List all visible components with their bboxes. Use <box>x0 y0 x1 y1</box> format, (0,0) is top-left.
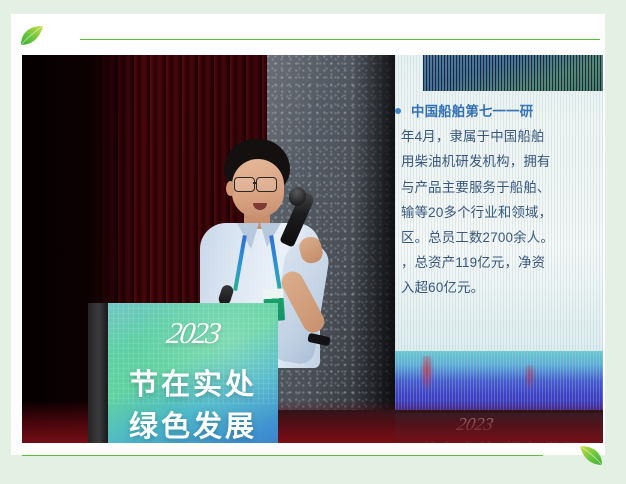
slide-line-text: 与产品主要服务于船舶、 <box>401 175 603 200</box>
slide-line-bullet: 中国船舶第七一一研 <box>401 99 603 124</box>
podium-title-line1: 节在实处 <box>108 361 278 403</box>
projection-screen: 中国船舶第七一一研 年4月，隶属于中国船舶 用柴油机研发机构，拥有 与产品主要服… <box>395 55 603 413</box>
leaf-icon <box>578 445 604 467</box>
slide-line-text: 用柴油机研发机构，拥有 <box>401 149 603 174</box>
podium-title-line2: 绿色发展 <box>108 403 278 443</box>
slide-header-image <box>423 55 603 91</box>
slide-line-text: ，总资产119亿元，净资 <box>401 250 603 275</box>
glasses-bridge <box>253 182 257 184</box>
slide-line-text: 入超60亿元。 <box>401 275 603 300</box>
slide-text-block: 中国船舶第七一一研 年4月，隶属于中国船舶 用柴油机研发机构，拥有 与产品主要服… <box>401 99 603 301</box>
slide-line-text: 输等20多个行业和领域， <box>401 200 603 225</box>
conference-photo: 中国船舶第七一一研 年4月，隶属于中国船舶 用柴油机研发机构，拥有 与产品主要服… <box>22 55 603 443</box>
glasses-icon <box>234 177 255 192</box>
bottom-divider-rule <box>22 455 543 456</box>
slide-line-text: 区。总员工数2700余人。 <box>401 225 603 250</box>
page-frame: 中国船舶第七一一研 年4月，隶属于中国船舶 用柴油机研发机构，拥有 与产品主要服… <box>0 0 626 484</box>
glasses-icon <box>256 177 277 192</box>
podium: 2023 节在实处 绿色发展 杭州市节能降碳创新研讨会 暨节能新技术新装备推介会 <box>88 303 278 443</box>
podium-front-panel: 2023 节在实处 绿色发展 杭州市节能降碳创新研讨会 暨节能新技术新装备推介会 <box>108 303 278 443</box>
top-divider-rule <box>80 39 600 40</box>
leaf-icon <box>19 25 45 47</box>
podium-logo: 2023 <box>108 317 278 351</box>
slide-line-text: 年4月，隶属于中国船舶 <box>401 124 603 149</box>
podium-side-panel <box>88 303 108 443</box>
bullet-dot-icon <box>395 108 401 114</box>
slide-line-text: 中国船舶第七一一研 <box>411 104 533 119</box>
